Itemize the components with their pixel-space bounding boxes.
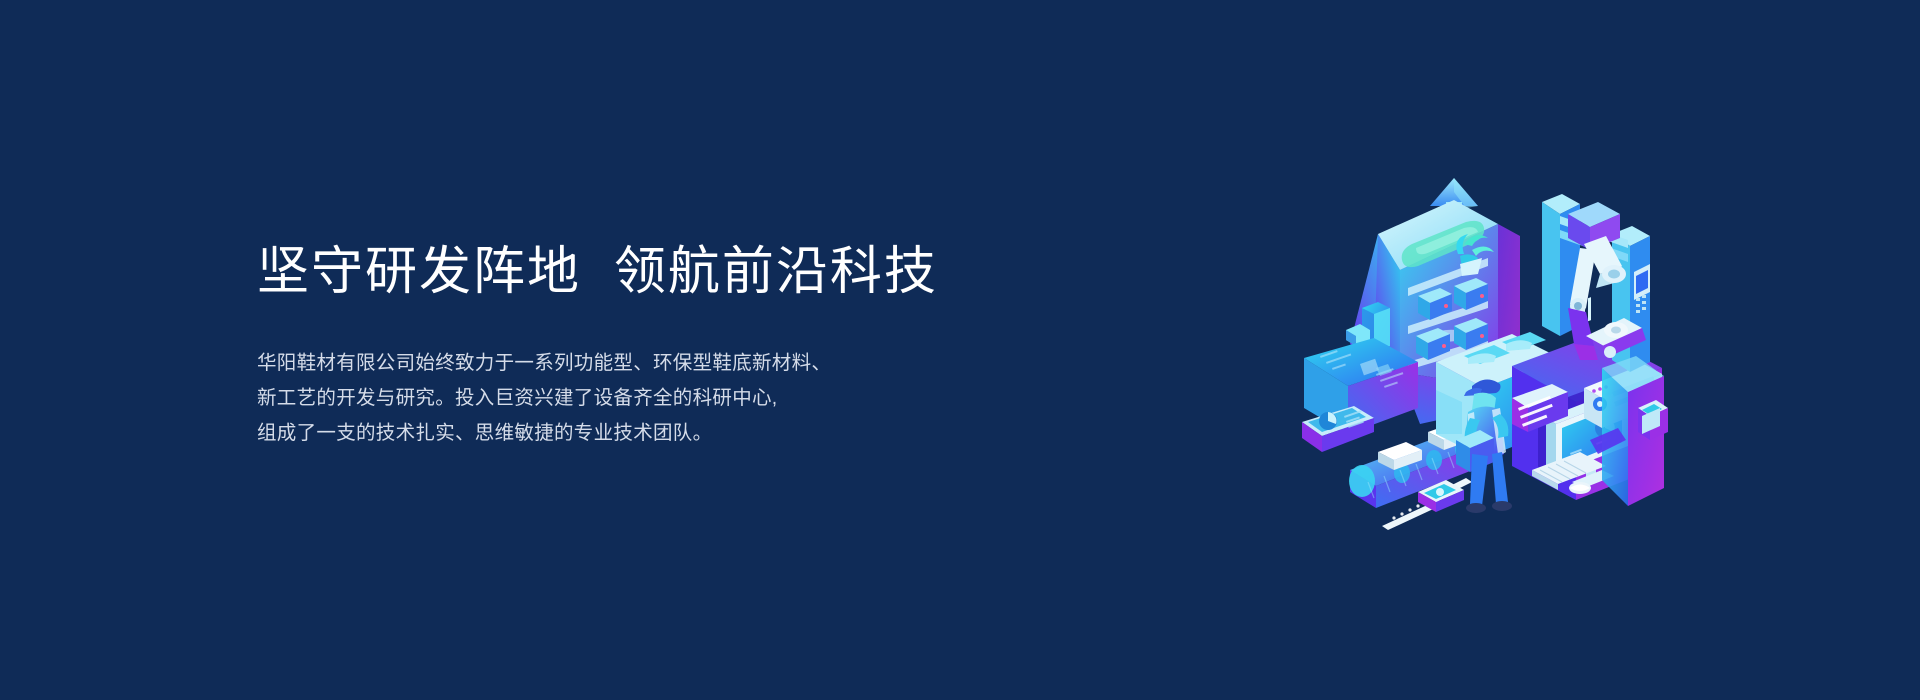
mouse (1569, 482, 1591, 494)
isometric-rnd-lab-illustration (1250, 140, 1730, 560)
description-line-1: 华阳鞋材有限公司始终致力于一系列功能型、环保型鞋底新材料、 (257, 346, 1077, 381)
handheld-device (1638, 400, 1668, 440)
page-title: 坚守研发阵地 领航前沿科技 (257, 240, 1077, 304)
hero-banner: 坚守研发阵地 领航前沿科技 华阳鞋材有限公司始终致力于一系列功能型、环保型鞋底新… (0, 0, 1920, 700)
description-line-3: 组成了一支的技术扎实、思维敏捷的专业技术团队。 (257, 416, 1077, 451)
hero-description: 华阳鞋材有限公司始终致力于一系列功能型、环保型鞋底新材料、 新工艺的开发与研究。… (257, 346, 1077, 451)
description-line-2: 新工艺的开发与研究。投入巨资兴建了设备齐全的科研中心, (257, 381, 1077, 416)
hero-text-block: 坚守研发阵地 领航前沿科技 华阳鞋材有限公司始终致力于一系列功能型、环保型鞋底新… (257, 240, 1077, 451)
phone-pie-chart (1319, 412, 1337, 430)
